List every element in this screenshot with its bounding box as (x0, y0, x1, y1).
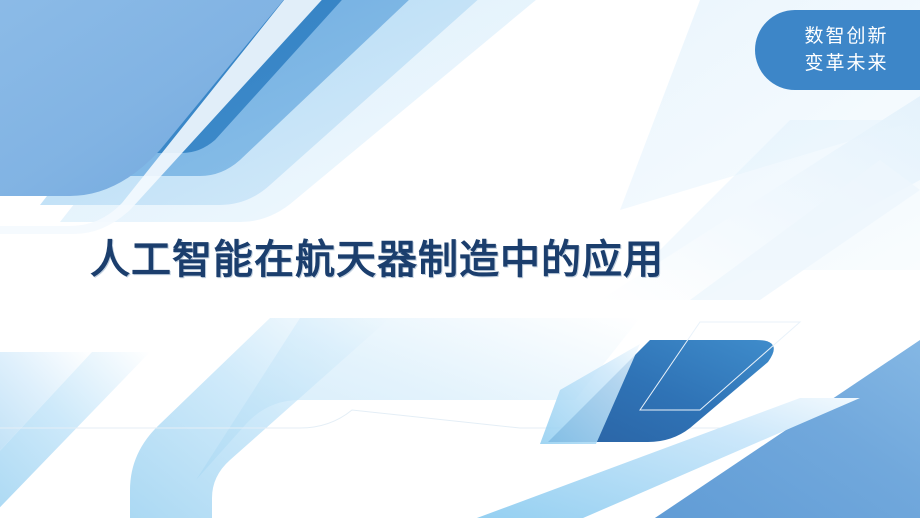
deco-hairline-bottom (0, 410, 920, 428)
deco-bottom-right-parallelogram (548, 340, 774, 442)
deco-parallelogram-outline (640, 322, 800, 410)
deco-band-outer-pale (60, 0, 560, 222)
deco-band-dark (10, 0, 360, 153)
deco-top-left-outline-sweep (0, 0, 340, 234)
deco-band-pale (0, 0, 330, 250)
deco-bottom-left-stripe-upper (0, 352, 92, 472)
deco-bottom-right-triangle (640, 340, 920, 518)
badge-line-1: 数智创新 (804, 23, 888, 50)
page-title-text: 人工智能在航天器制造中的应用 (90, 236, 664, 284)
deco-band-mid (25, 0, 430, 176)
deco-bottom-left-wing (196, 318, 640, 480)
deco-bottom-left-stripe-upper-2 (0, 352, 150, 518)
deco-band-light (40, 0, 500, 205)
deco-bottom-left-stripe-main (130, 318, 390, 518)
presentation-slide: 数智创新 变革未来 人工智能在航天器制造中的应用 (0, 0, 920, 518)
status-badge: 数智创新 变革未来 (755, 10, 920, 90)
deco-bottom-right-light-sliver (540, 344, 640, 444)
deco-bottom-right-triangle-light (450, 398, 860, 518)
page-title: 人工智能在航天器制造中的应用 (90, 232, 790, 288)
deco-top-left-panel (0, 0, 300, 196)
badge-line-2: 变革未来 (804, 50, 888, 77)
